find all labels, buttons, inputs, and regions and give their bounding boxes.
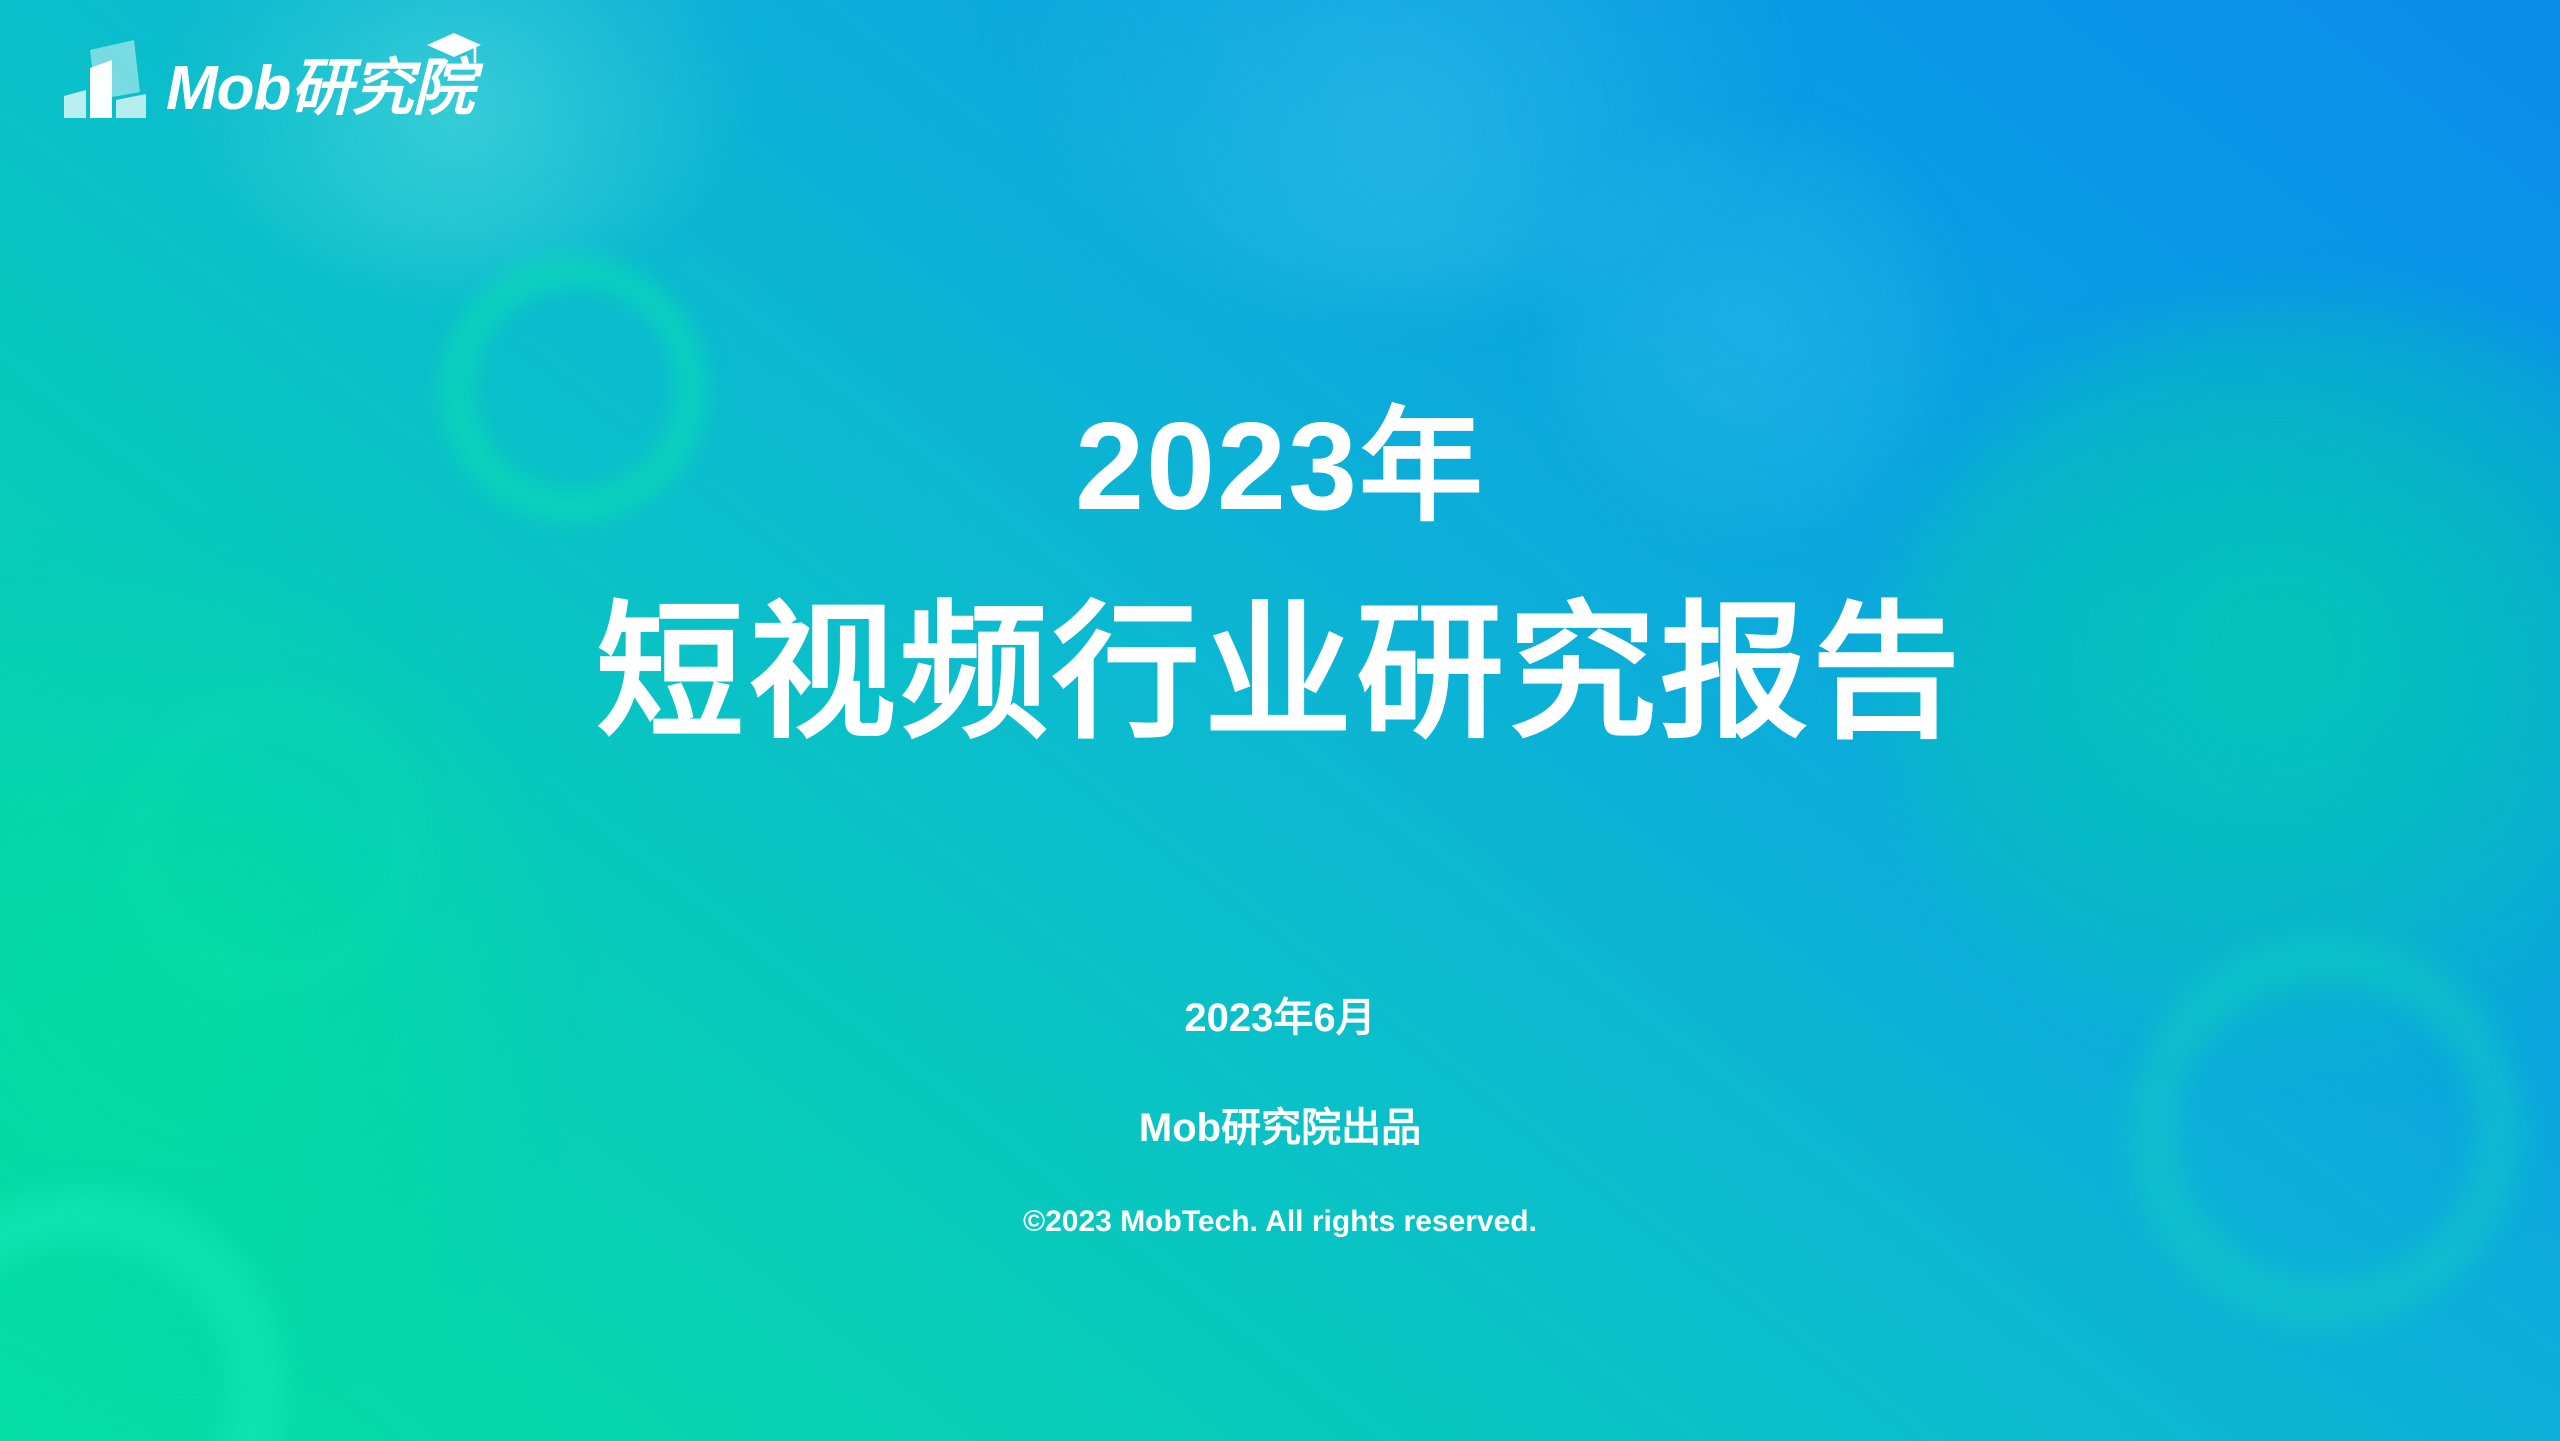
report-cover-slide: Mob研究院 2023年 短视频行业研究报告 2023年6月 Mob研究院出品 … — [0, 0, 2560, 1441]
subtitle-producer: Mob研究院出品 — [0, 1095, 2560, 1153]
title-main-line: 短视频行业研究报告 — [0, 600, 2560, 748]
graduation-cap-icon — [425, 29, 483, 69]
subtitle-date: 2023年6月 — [0, 985, 2560, 1043]
brand-logo: Mob研究院 — [60, 28, 473, 120]
copyright-notice: ©2023 MobTech. All rights reserved. — [0, 1205, 2560, 1239]
decorative-glow-top-middle — [1020, 0, 1780, 300]
bar-chart-building-icon — [60, 38, 156, 120]
brand-logo-text: Mob研究院 — [166, 59, 473, 120]
title-year-line: 2023年 — [0, 405, 2560, 529]
